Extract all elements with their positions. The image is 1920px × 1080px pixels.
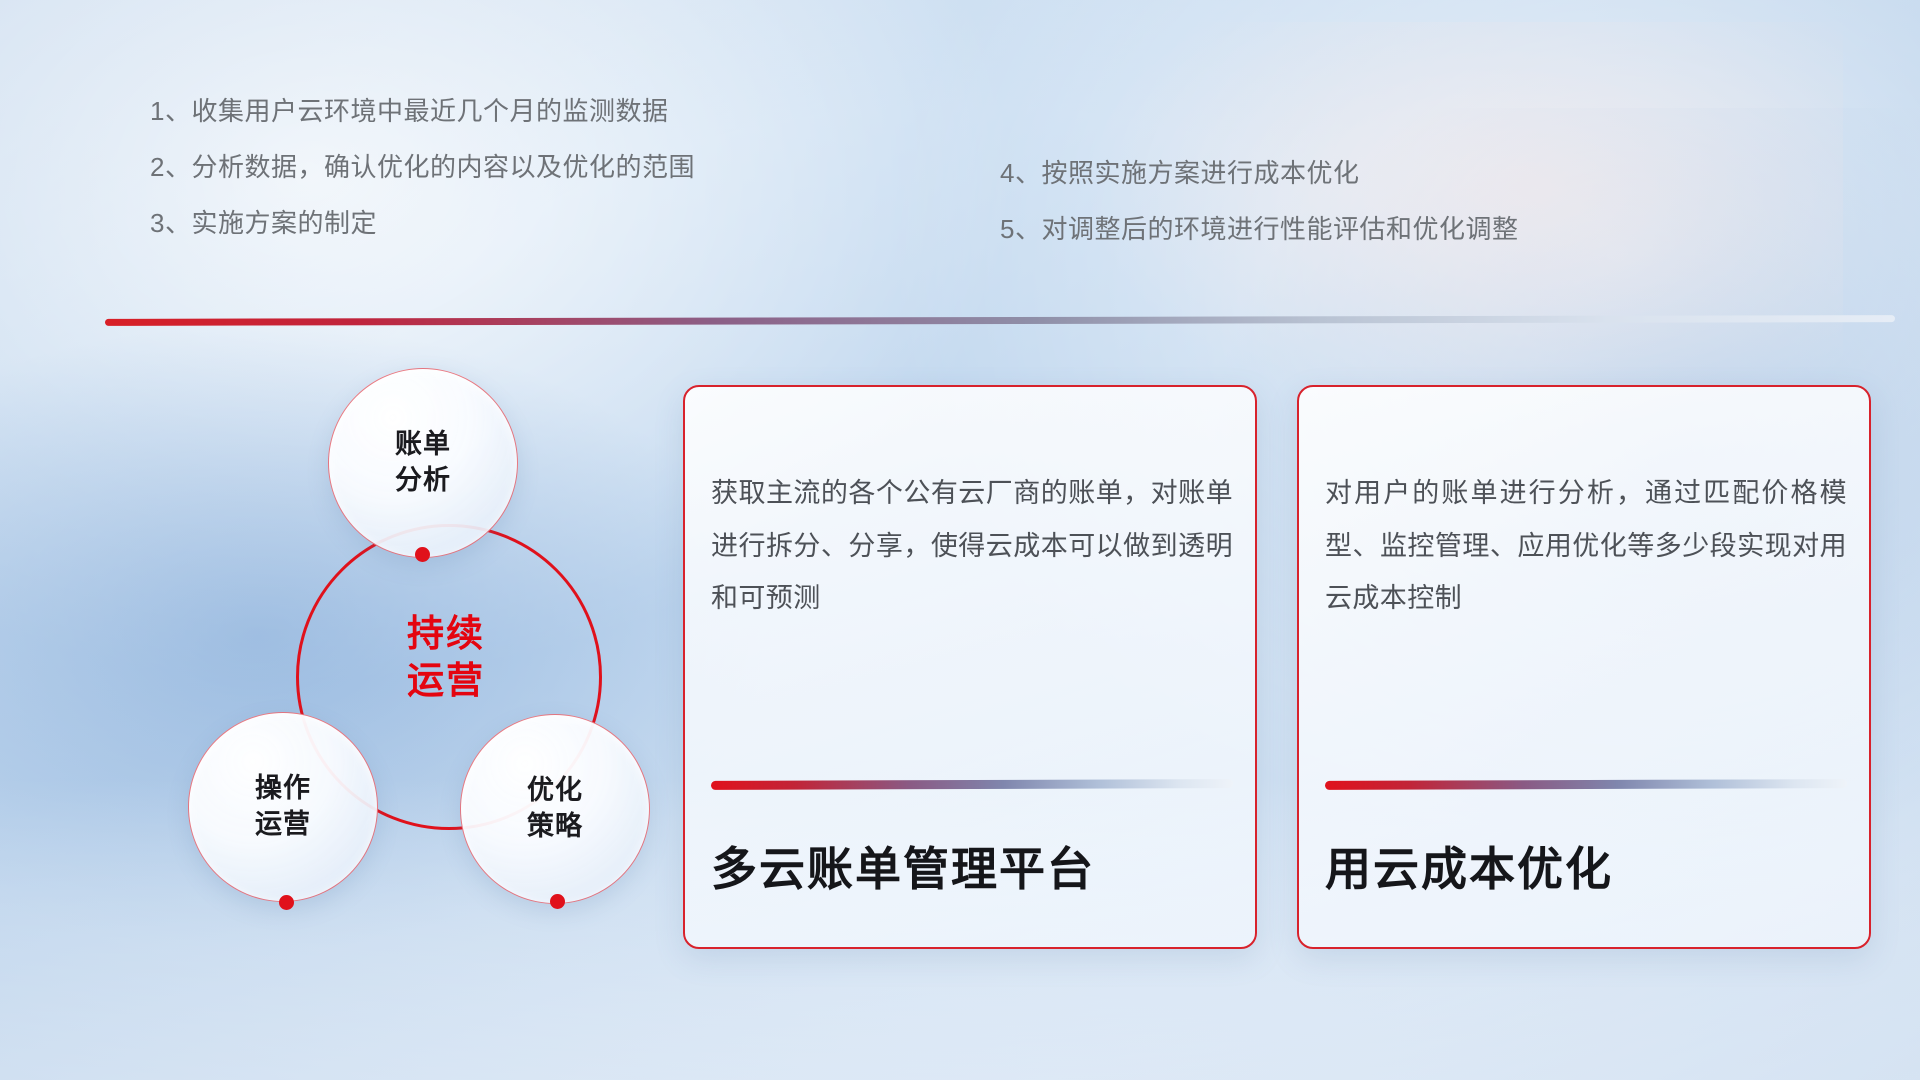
venn-node-dot-bottom-left: [279, 895, 294, 910]
venn-node-dot-top: [415, 547, 430, 562]
venn-center-line1: 持续: [296, 610, 596, 657]
card-title: 用云成本优化: [1325, 833, 1847, 925]
card-content: 获取主流的各个公有云厂商的账单，对账单进行拆分、分享，使得云成本可以做到透明和可…: [711, 411, 1233, 925]
card-divider: [711, 779, 1233, 790]
feature-card-cost-optimization[interactable]: 对用户的账单进行分析，通过匹配价格模型、监控管理、应用优化等多少段实现对用云成本…: [1297, 385, 1871, 949]
venn-bubble-line1: 优化: [527, 775, 583, 805]
venn-bubble-line1: 操作: [255, 773, 311, 803]
venn-bubble-bill-analysis[interactable]: 账单分析: [328, 368, 518, 558]
venn-center-line2: 运营: [296, 657, 596, 704]
card-divider: [1325, 779, 1847, 790]
steps-list-right: 4、按照实施方案进行成本优化 5、对调整后的环境进行性能评估和优化调整: [1000, 160, 1518, 272]
venn-bubble-line2: 运营: [255, 809, 311, 839]
venn-diagram: 账单分析 操作运营 优化策略 持续 运营: [100, 352, 620, 952]
card-content: 对用户的账单进行分析，通过匹配价格模型、监控管理、应用优化等多少段实现对用云成本…: [1325, 411, 1847, 925]
card-title: 多云账单管理平台: [711, 833, 1233, 925]
venn-bubble-line2: 策略: [527, 811, 583, 841]
venn-bubble-label: 优化策略: [527, 773, 583, 844]
slide-canvas: 1、收集用户云环境中最近几个月的监测数据 2、分析数据，确认优化的内容以及优化的…: [0, 0, 1920, 1080]
card-body-text: 获取主流的各个公有云厂商的账单，对账单进行拆分、分享，使得云成本可以做到透明和可…: [711, 411, 1233, 625]
venn-bubble-line2: 分析: [395, 465, 451, 495]
step-item: 4、按照实施方案进行成本优化: [1000, 160, 1518, 186]
venn-node-dot-bottom-right: [550, 894, 565, 909]
feature-card-multicloud-billing[interactable]: 获取主流的各个公有云厂商的账单，对账单进行拆分、分享，使得云成本可以做到透明和可…: [683, 385, 1257, 949]
venn-bubble-operations[interactable]: 操作运营: [188, 712, 378, 902]
steps-list-left: 1、收集用户云环境中最近几个月的监测数据 2、分析数据，确认优化的内容以及优化的…: [150, 98, 695, 266]
venn-bubble-label: 账单分析: [395, 427, 451, 498]
step-item: 3、实施方案的制定: [150, 210, 695, 236]
venn-bubble-label: 操作运营: [255, 771, 311, 842]
venn-bubble-line1: 账单: [395, 429, 451, 459]
card-body-text: 对用户的账单进行分析，通过匹配价格模型、监控管理、应用优化等多少段实现对用云成本…: [1325, 411, 1847, 625]
venn-center-label: 持续 运营: [296, 610, 596, 705]
step-item: 1、收集用户云环境中最近几个月的监测数据: [150, 98, 695, 124]
step-item: 5、对调整后的环境进行性能评估和优化调整: [1000, 216, 1518, 242]
venn-bubble-optimization-strategy[interactable]: 优化策略: [460, 714, 650, 904]
step-item: 2、分析数据，确认优化的内容以及优化的范围: [150, 154, 695, 180]
